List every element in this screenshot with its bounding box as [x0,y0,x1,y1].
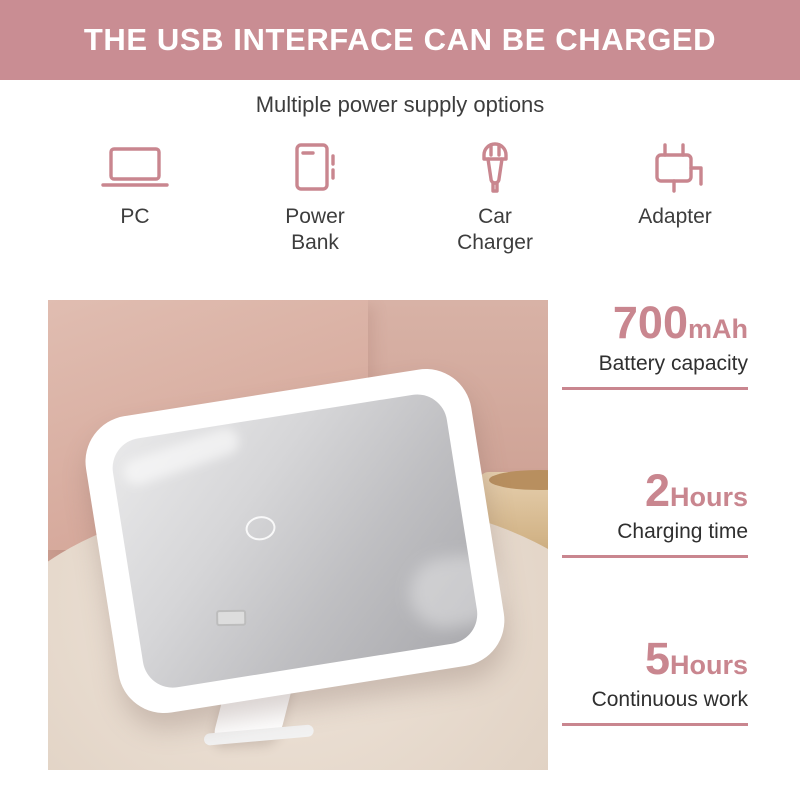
power-option-car-charger: Car Charger [420,138,570,257]
power-option-adapter: Adapter [600,138,750,230]
spec-divider [562,723,748,726]
spec-label: Battery capacity [556,352,748,376]
spec-unit: mAh [688,314,748,344]
led-mirror-device [79,361,527,759]
product-infographic: THE USB INTERFACE CAN BE CHARGED Multipl… [0,0,800,800]
spec-list: 700mAh Battery capacity 2Hours Charging … [556,300,772,770]
power-option-label: PC [120,204,149,230]
power-option-power-bank: Power Bank [240,138,390,257]
power-options-row: PC Power Bank [60,138,750,257]
product-photo [48,300,548,770]
spec-number: 2 [645,465,670,516]
spec-unit: Hours [670,650,748,680]
spec-divider [562,387,748,390]
spec-number: 5 [645,633,670,684]
spec-divider [562,555,748,558]
power-option-label: Car Charger [457,204,533,257]
spec-label: Charging time [556,520,748,544]
spec-charging-time: 2Hours Charging time [556,468,748,558]
car-charger-icon [464,138,526,196]
spec-number: 700 [613,297,688,348]
subtitle: Multiple power supply options [0,92,800,118]
spec-label: Continuous work [556,688,748,712]
power-bank-icon [279,138,351,196]
spec-value: 2Hours [556,468,748,513]
spec-continuous-work: 5Hours Continuous work [556,636,748,726]
adapter-plug-icon [641,138,709,196]
header-banner: THE USB INTERFACE CAN BE CHARGED [0,0,800,80]
laptop-icon [99,138,171,196]
banner-title: THE USB INTERFACE CAN BE CHARGED [84,22,716,58]
usb-port [216,610,246,627]
power-option-label: Adapter [638,204,712,230]
power-option-pc: PC [60,138,210,230]
spec-unit: Hours [670,482,748,512]
mirror-body [79,362,511,719]
spec-battery-capacity: 700mAh Battery capacity [556,300,748,390]
power-option-label: Power Bank [285,204,345,257]
spec-value: 5Hours [556,636,748,681]
spec-value: 700mAh [556,300,748,345]
mirror-glass [108,390,481,692]
